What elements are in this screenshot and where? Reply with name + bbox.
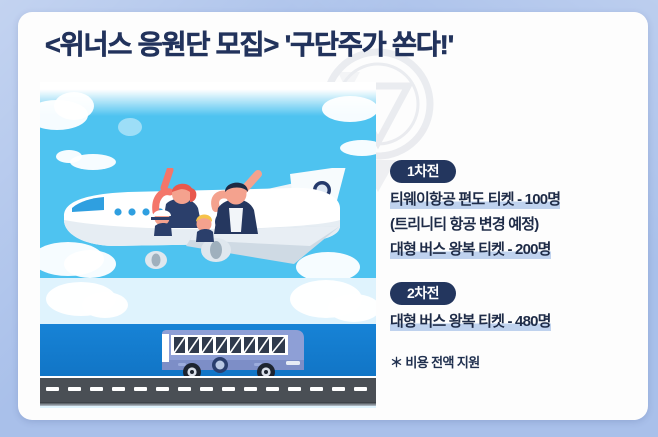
info-line: 대형 버스 왕복 티켓 - 480명 (390, 312, 630, 332)
info-section-1: 1차전 티웨이항공 편도 티켓 - 100명 (트리니티 항공 변경 예정) 대… (390, 160, 630, 260)
info-section-2: 2차전 대형 버스 왕복 티켓 - 480명 (390, 282, 630, 332)
road-band (40, 376, 376, 404)
illustration-panel (40, 82, 376, 408)
info-line: (트리니티 항공 변경 예정) (390, 215, 630, 235)
cloud-icon (56, 150, 82, 163)
status-badge: 2차전 (390, 282, 456, 305)
section-gap (390, 265, 630, 282)
road-edge-shadow (40, 402, 376, 406)
cloud-icon (328, 294, 376, 322)
info-panel: 1차전 티웨이항공 편도 티켓 - 100명 (트리니티 항공 변경 예정) 대… (390, 160, 630, 372)
cloud-icon (340, 140, 376, 156)
cloud-icon (82, 292, 128, 318)
cloud-icon (322, 96, 376, 122)
bus-road-scene (40, 278, 376, 408)
poster-card: <위너스 응원단 모집> '구단주가 쏜다!' (18, 12, 648, 420)
info-line: 티웨이항공 편도 티켓 - 100명 (390, 190, 630, 210)
airplane-with-cheering-fans-illustration (58, 168, 370, 276)
cloud-icon (54, 92, 94, 120)
airplane-scene (40, 82, 376, 278)
page-title: <위너스 응원단 모집> '구단주가 쏜다!' (45, 28, 605, 62)
info-line: 대형 버스 왕복 티켓 - 200명 (390, 240, 630, 260)
poster-backdrop: <위너스 응원단 모집> '구단주가 쏜다!' (0, 0, 658, 437)
footnote: ＊ 비용 전액 지원 (390, 354, 630, 372)
status-badge: 1차전 (390, 160, 456, 183)
cloud-icon (118, 118, 142, 136)
